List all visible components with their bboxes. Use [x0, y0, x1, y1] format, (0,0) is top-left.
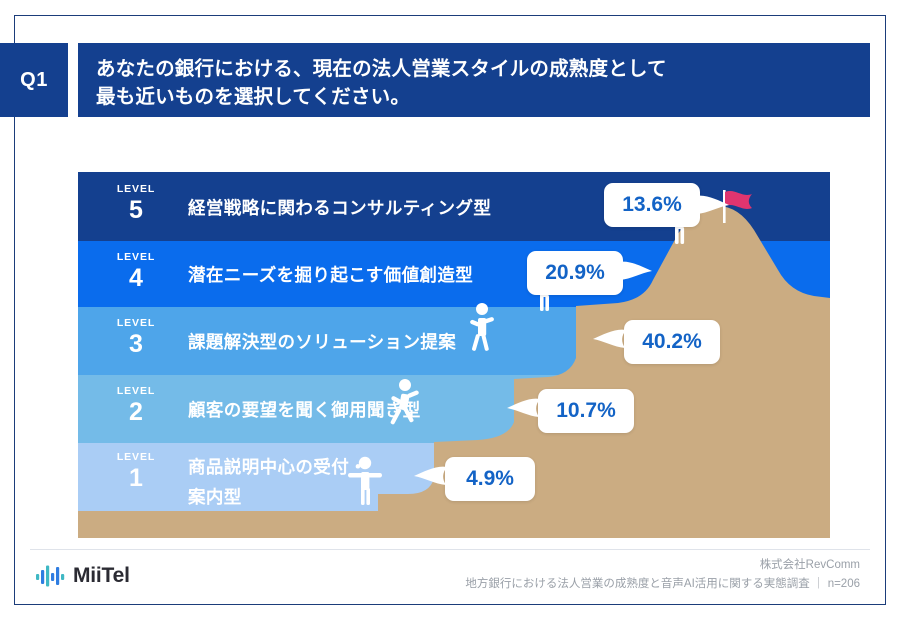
bubble-tail-level-2 [506, 397, 540, 419]
footer-survey-line: 地方銀行における法人営業の成熟度と音声AI活用に関する実態調査 ｜ n=206 [465, 575, 860, 594]
percent-value-level-2: 10.7% [556, 399, 616, 423]
percent-bubble-level-5: 13.6% [604, 183, 700, 227]
percent-bubble-level-2: 10.7% [538, 389, 634, 433]
footer-divider [30, 549, 870, 550]
climber-figure-level-3 [470, 303, 495, 351]
percent-bubble-level-4: 20.9% [527, 251, 623, 295]
footer-separator: ｜ [813, 578, 825, 590]
bubble-tail-level-5 [696, 194, 730, 216]
question-title-line-1: あなたの銀行における、現在の法人営業スタイルの成熟度として [96, 55, 852, 83]
percent-value-level-1: 4.9% [466, 467, 514, 491]
miitel-logo: MiiTel [36, 563, 130, 589]
question-title-banner: あなたの銀行における、現在の法人営業スタイルの成熟度として 最も近いものを選択し… [78, 43, 870, 117]
footer-credit: 株式会社RevComm 地方銀行における法人営業の成熟度と音声AI活用に関する実… [465, 556, 860, 594]
climber-figure-level-2 [390, 379, 419, 425]
footer-company: 株式会社RevComm [465, 556, 860, 575]
question-number-label: Q1 [20, 69, 48, 92]
maturity-level-chart: LEVEL 5 経営戦略に関わるコンサルティング型 LEVEL 4 潜在ニーズを… [78, 172, 830, 538]
slide-root: Q1 あなたの銀行における、現在の法人営業スタイルの成熟度として 最も近いものを… [0, 0, 900, 623]
question-title-line-2: 最も近いものを選択してください。 [96, 83, 852, 111]
percent-value-level-3: 40.2% [642, 330, 702, 354]
question-number-badge: Q1 [0, 43, 68, 117]
percent-value-level-4: 20.9% [545, 261, 605, 285]
bubble-tail-level-4 [619, 260, 653, 282]
bubble-tail-level-3 [592, 328, 626, 350]
percent-value-level-5: 13.6% [622, 193, 682, 217]
audio-waveform-icon [36, 565, 66, 587]
bubble-tail-level-1 [413, 465, 447, 487]
percent-bubble-level-1: 4.9% [445, 457, 535, 501]
footer-survey-title: 地方銀行における法人営業の成熟度と音声AI活用に関する実態調査 [465, 578, 809, 590]
footer-sample-size: n=206 [828, 578, 860, 590]
percent-bubble-level-3: 40.2% [624, 320, 720, 364]
climber-figure-level-1 [348, 457, 382, 505]
miitel-logo-text: MiiTel [73, 564, 130, 588]
